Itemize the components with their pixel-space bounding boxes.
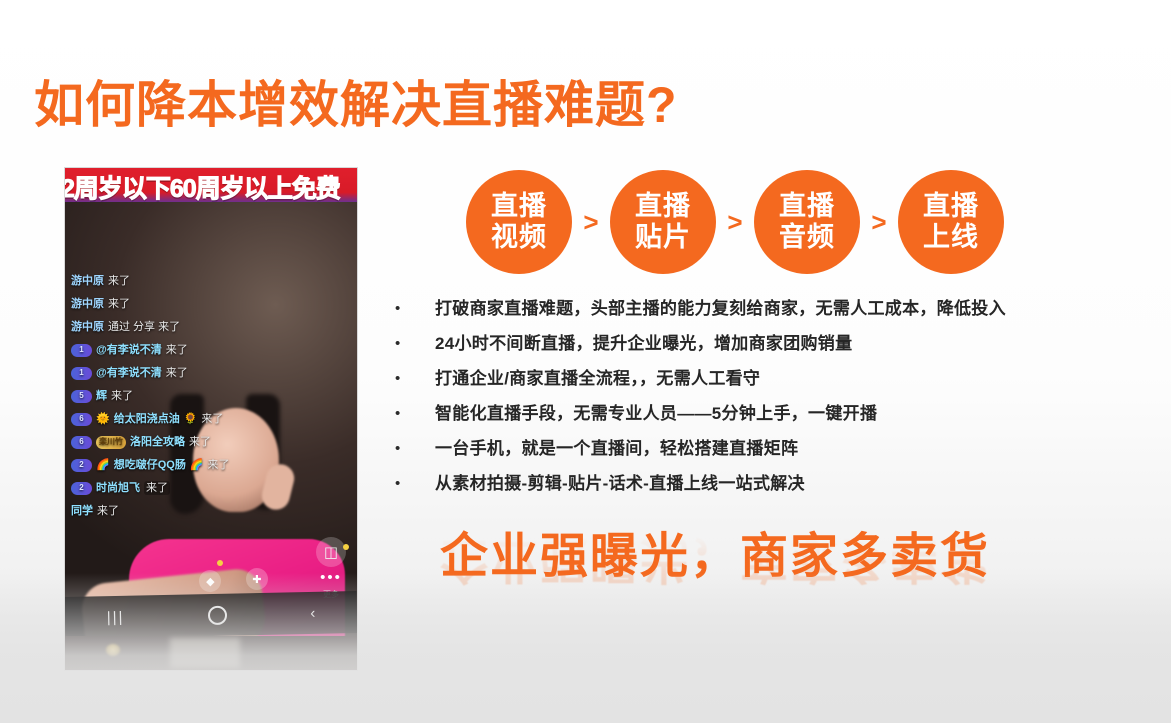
sunflower-emoji-icon: 🌻 <box>184 412 198 426</box>
chat-level-badge: 1 <box>71 344 92 357</box>
android-nav-bar[interactable]: ||| ‹ <box>65 591 357 639</box>
chat-message: 游中原 来了 <box>71 297 301 311</box>
page-title: 如何降本增效解决直播难题? <box>34 76 678 134</box>
flow-step-line1: 直播 <box>923 191 979 222</box>
chat-message: 6 🌞 给太阳浇点油 🌻 来了 <box>71 412 301 426</box>
chevron-right-icon: > <box>860 207 898 238</box>
list-item: • 打破商家直播难题，头部主播的能力复刻给商家，无需人工成本，降低投入 <box>392 296 1152 324</box>
chat-level-badge: 2 <box>71 459 92 472</box>
notification-dot <box>217 560 223 566</box>
list-item-text: 从素材拍摄-剪辑-贴片-话术-直播上线一站式解决 <box>435 471 805 497</box>
chat-level-badge: 6 <box>71 436 92 449</box>
chat-level-badge: 6 <box>71 413 92 426</box>
list-item-text: 24小时不间断直播，提升企业曝光，增加商家团购销量 <box>435 331 852 357</box>
list-item-text: 一台手机，就是一个直播间，轻松搭建直播矩阵 <box>435 436 798 462</box>
chat-level-badge: 1 <box>71 367 92 380</box>
recents-button[interactable]: ||| <box>107 608 125 625</box>
chat-nickname: 同学 <box>71 504 93 518</box>
chat-nickname: 游中原 <box>71 320 104 334</box>
more-dots-icon[interactable]: ••• <box>320 573 342 583</box>
bullet-marker: • <box>392 296 435 322</box>
rainbow-emoji-icon: 🌈 <box>190 458 204 472</box>
bullet-marker: • <box>392 436 435 462</box>
list-item: • 智能化直播手段，无需专业人员——5分钟上手，一键开播 <box>392 401 1152 429</box>
chat-action: 来了 <box>111 389 133 403</box>
tagline-block: 企业强曝光，商家多卖货 企业强曝光，商家多卖货 <box>440 528 990 646</box>
list-item: • 24小时不间断直播，提升企业曝光，增加商家团购销量 <box>392 331 1152 359</box>
list-item-text: 打通企业/商家直播全流程，，无需人工看守 <box>435 366 760 392</box>
sun-emoji-icon: 🌞 <box>96 412 110 426</box>
flow-step-line1: 直播 <box>491 191 547 222</box>
chat-level-badge: 5 <box>71 390 92 403</box>
chat-message: 6 栾川竹 洛阳全攻略 来了 <box>71 435 301 449</box>
chevron-right-icon: > <box>572 207 610 238</box>
chat-fanclub-badge: 栾川竹 <box>96 436 126 449</box>
chat-message: 2 时尚旭飞 来了 <box>71 481 301 495</box>
flow-step-line2: 音频 <box>779 222 835 253</box>
feature-list: • 打破商家直播难题，头部主播的能力复刻给商家，无需人工成本，降低投入 • 24… <box>392 296 1152 506</box>
chat-message: 5 辉 来了 <box>71 389 301 403</box>
chat-nickname: 辉 <box>96 389 107 403</box>
chat-action: 来了 <box>201 412 223 426</box>
chat-action: 通过 分享 来了 <box>108 320 180 334</box>
flow-step-live-video[interactable]: 直播 视频 <box>466 170 572 274</box>
list-item-text: 打破商家直播难题，头部主播的能力复刻给商家，无需人工成本，降低投入 <box>435 296 1006 322</box>
chat-action: 来了 <box>166 343 188 357</box>
treasure-chest-icon[interactable]: ◫ <box>316 537 346 567</box>
chat-nickname: 想吃啵仔QQ肠 <box>114 458 186 472</box>
chat-nickname: 给太阳浇点油 <box>114 412 180 426</box>
chat-action: 来了 <box>97 504 119 518</box>
chat-action: 来了 <box>108 274 130 288</box>
slide-canvas: 如何降本增效解决直播难题? 2周岁以下60周岁以上免费 游中原 来了 游中原 来… <box>0 0 1171 723</box>
chat-action: 来了 <box>108 297 130 311</box>
tagline-reflection: 企业强曝光，商家多卖货 <box>440 530 990 588</box>
livestream-banner-text: 2周岁以下60周岁以上免费 <box>65 169 340 202</box>
flow-step-line2: 上线 <box>923 222 979 253</box>
chat-nickname: 时尚旭飞 <box>96 481 140 495</box>
chat-message: 1 @有李说不清 来了 <box>71 343 301 357</box>
share-icon[interactable]: ✚ <box>246 568 268 590</box>
list-item: • 打通企业/商家直播全流程，，无需人工看守 <box>392 366 1152 394</box>
chat-action: 来了 <box>144 481 170 495</box>
chat-message: 2 🌈 想吃啵仔QQ肠 🌈 来了 <box>71 458 301 472</box>
list-item: • 从素材拍摄-剪辑-贴片-话术-直播上线一站式解决 <box>392 471 1152 499</box>
chat-message: 1 @有李说不清 来了 <box>71 366 301 380</box>
chevron-right-icon: > <box>716 207 754 238</box>
desk-object <box>170 638 240 668</box>
chat-action: 来了 <box>166 366 188 380</box>
list-item-text: 智能化直播手段，无需专业人员——5分钟上手，一键开播 <box>435 401 877 427</box>
chat-nickname: @有李说不清 <box>96 343 162 357</box>
bullet-marker: • <box>392 331 435 357</box>
desk-surface <box>65 636 357 670</box>
phone-screenshot: 2周岁以下60周岁以上免费 游中原 来了 游中原 来了 游中原 <box>65 168 357 670</box>
bullet-marker: • <box>392 366 435 392</box>
chat-nickname: @有李说不清 <box>96 366 162 380</box>
home-button[interactable] <box>208 605 227 624</box>
flow-step-line2: 视频 <box>491 222 547 253</box>
rainbow-emoji-icon: 🌈 <box>96 458 110 472</box>
process-flow: 直播 视频 > 直播 贴片 > 直播 音频 > 直播 上线 <box>466 170 1004 274</box>
chat-nickname: 游中原 <box>71 297 104 311</box>
chat-level-badge: 2 <box>71 482 92 495</box>
flow-step-line1: 直播 <box>635 191 691 222</box>
bullet-marker: • <box>392 401 435 427</box>
chat-nickname: 洛阳全攻略 <box>130 435 185 449</box>
flow-step-line2: 贴片 <box>635 222 691 253</box>
chat-nickname: 游中原 <box>71 274 104 288</box>
flow-step-go-live[interactable]: 直播 上线 <box>898 170 1004 274</box>
notification-dot <box>343 544 349 550</box>
livestream-banner: 2周岁以下60周岁以上免费 <box>65 168 357 202</box>
back-button[interactable]: ‹ <box>310 604 315 621</box>
chat-message: 同学 来了 <box>71 504 301 518</box>
chat-action: 来了 <box>189 435 211 449</box>
flow-step-live-audio[interactable]: 直播 音频 <box>754 170 860 274</box>
flow-step-line1: 直播 <box>779 191 835 222</box>
bullet-marker: • <box>392 471 435 497</box>
flow-step-live-overlay[interactable]: 直播 贴片 <box>610 170 716 274</box>
chat-message: 游中原 通过 分享 来了 <box>71 320 301 334</box>
list-item: • 一台手机，就是一个直播间，轻松搭建直播矩阵 <box>392 436 1152 464</box>
chat-message: 游中原 来了 <box>71 274 301 288</box>
livestream-chat-list[interactable]: 游中原 来了 游中原 来了 游中原 通过 分享 来了 1 @有李说不清 来了 <box>71 274 301 527</box>
chat-action: 来了 <box>208 458 230 472</box>
desk-light <box>106 644 120 656</box>
